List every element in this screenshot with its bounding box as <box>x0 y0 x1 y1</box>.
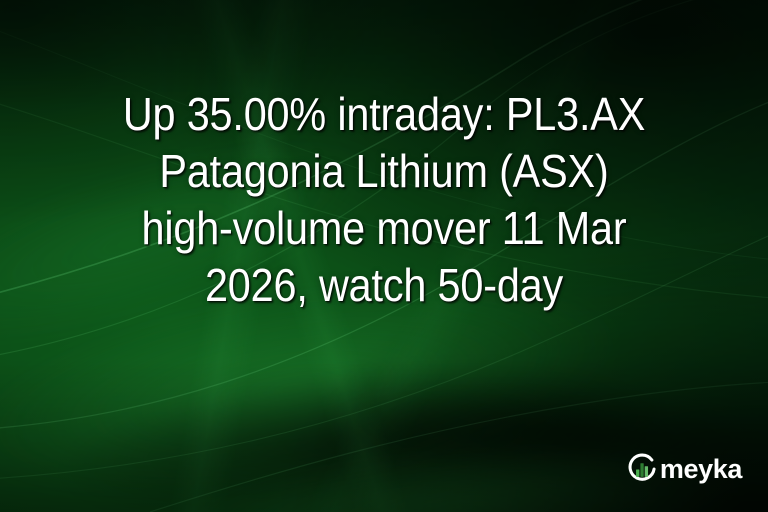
headline-line-4: 2026, watch 50-day <box>38 257 729 314</box>
headline-line-2: Patagonia Lithium (ASX) <box>38 143 729 200</box>
social-card-canvas: Up 35.00% intraday: PL3.AX Patagonia Lit… <box>0 0 768 512</box>
headline-block: Up 35.00% intraday: PL3.AX Patagonia Lit… <box>0 86 768 314</box>
logo-wordmark: meyka <box>660 456 742 483</box>
headline-line-3: high-volume mover 11 Mar <box>38 200 729 257</box>
meyka-logo[interactable]: meyka <box>625 452 742 486</box>
headline-line-1: Up 35.00% intraday: PL3.AX <box>38 86 729 143</box>
background-wave-shadow-lower <box>227 351 768 512</box>
circular-bar-chart-icon <box>625 452 659 486</box>
